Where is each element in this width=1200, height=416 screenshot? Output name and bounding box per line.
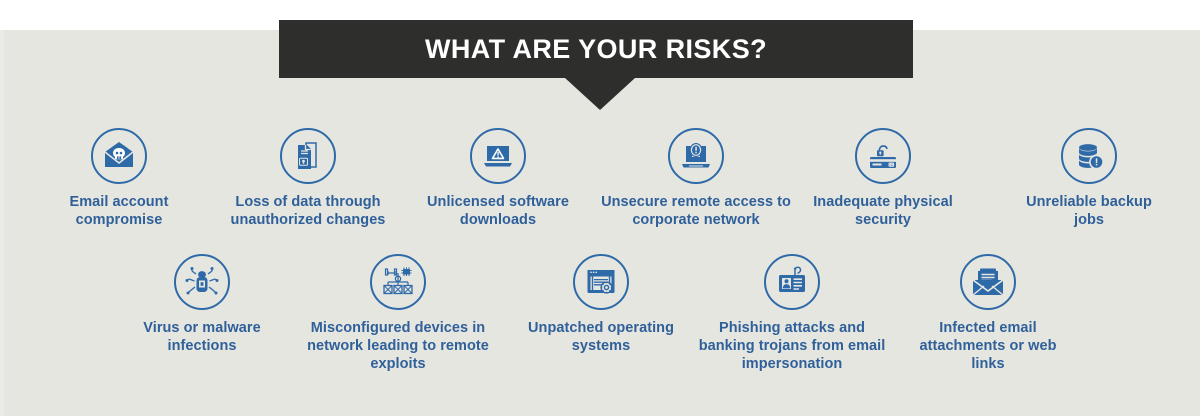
risk-label: Unpatched operating systems bbox=[512, 319, 690, 355]
risk-item-unpatched-operating-systems[interactable]: Unpatched operating systems bbox=[512, 254, 690, 355]
laptop-warning-triangle-icon bbox=[470, 128, 526, 184]
risk-item-virus-malware[interactable]: Virus or malware infections bbox=[120, 254, 284, 355]
risk-item-phishing-attacks[interactable]: Phishing attacks and banking trojans fro… bbox=[698, 254, 886, 373]
risk-label: Phishing attacks and banking trojans fro… bbox=[698, 319, 886, 373]
risk-item-unreliable-backup-jobs[interactable]: Unreliable backup jobs bbox=[1011, 128, 1167, 229]
risk-item-unlicensed-software[interactable]: Unlicensed software downloads bbox=[413, 128, 583, 229]
risk-item-inadequate-physical-security[interactable]: Inadequate physical security bbox=[797, 128, 969, 229]
risk-item-misconfigured-devices[interactable]: Misconfigured devices in network leading… bbox=[299, 254, 497, 373]
database-exclamation-icon bbox=[1061, 128, 1117, 184]
panel-left-edge bbox=[0, 30, 4, 416]
risk-label: Unsecure remote access to corporate netw… bbox=[600, 193, 792, 229]
malware-bug-icon bbox=[174, 254, 230, 310]
risk-item-email-account-compromise[interactable]: Email account compromise bbox=[29, 128, 209, 229]
risk-label: Loss of data through unauthorized change… bbox=[217, 193, 399, 229]
risk-label: Virus or malware infections bbox=[120, 319, 284, 355]
browser-window-gear-icon bbox=[573, 254, 629, 310]
risk-label: Misconfigured devices in network leading… bbox=[299, 319, 497, 373]
title-banner: WHAT ARE YOUR RISKS? bbox=[279, 20, 913, 78]
risk-item-loss-of-data[interactable]: Loss of data through unauthorized change… bbox=[217, 128, 399, 229]
risk-label: Email account compromise bbox=[29, 193, 209, 229]
risk-label: Inadequate physical security bbox=[797, 193, 969, 229]
risk-item-unsecure-remote-access[interactable]: Unsecure remote access to corporate netw… bbox=[600, 128, 792, 229]
envelope-skull-icon bbox=[91, 128, 147, 184]
risk-label: Unlicensed software downloads bbox=[413, 193, 583, 229]
risk-item-infected-email-attachments[interactable]: Infected email attachments or web links bbox=[905, 254, 1071, 373]
id-card-fishing-hook-icon bbox=[764, 254, 820, 310]
access-card-unlocked-padlock-icon bbox=[855, 128, 911, 184]
network-topology-icon bbox=[370, 254, 426, 310]
documents-unlocked-padlock-icon bbox=[280, 128, 336, 184]
banner-title: WHAT ARE YOUR RISKS? bbox=[425, 34, 767, 65]
laptop-lock-badge-icon bbox=[668, 128, 724, 184]
banner-arrow-pointer bbox=[565, 78, 635, 110]
envelope-letter-icon bbox=[960, 254, 1016, 310]
risk-label: Unreliable backup jobs bbox=[1011, 193, 1167, 229]
risk-label: Infected email attachments or web links bbox=[905, 319, 1071, 373]
risks-infographic: WHAT ARE YOUR RISKS? Email account bbox=[0, 0, 1200, 416]
